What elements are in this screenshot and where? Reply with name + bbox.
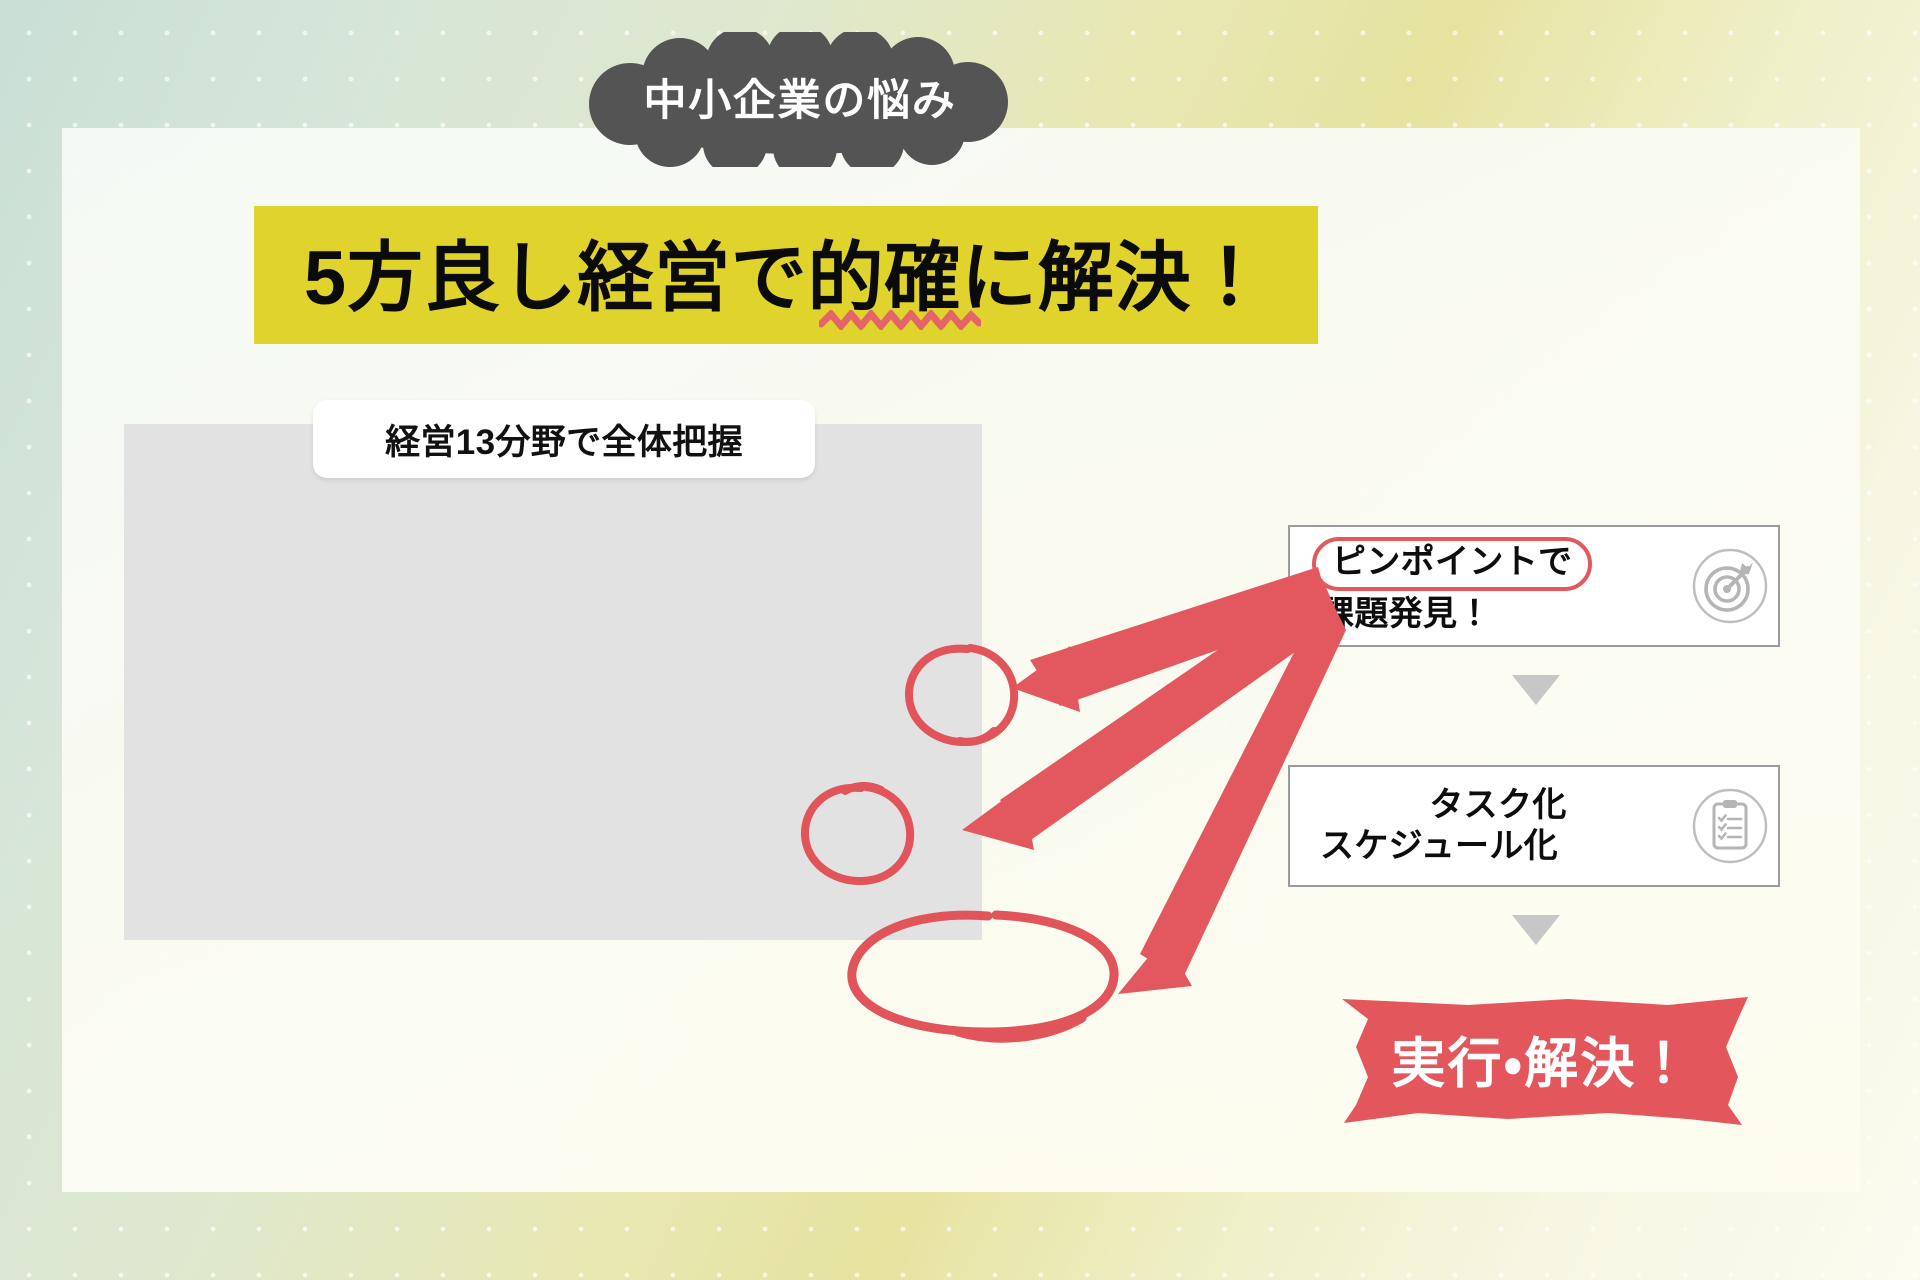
card-body: ピンポイントで 課題発見！ [1290,537,1682,635]
grid-heading-chip: 経営13分野で全体把握 [313,400,815,478]
headline-banner: 5方良し経営で的確に解決！ [254,206,1318,344]
red-squiggle-underline-icon [819,310,981,330]
card-line-primary: ピンポイントで [1312,537,1592,590]
ribbon-banner: 実行・解決！ [1308,985,1776,1135]
ribbon-label: 実行・解決！ [1308,985,1776,1135]
card-line-secondary: スケジュール化 [1320,826,1682,867]
card-task[interactable]: タスク化 スケジュール化 [1288,765,1780,887]
cloud-bubble-label: 中小企業の悩み [560,32,1040,167]
card-line-secondary: 課題発見！ [1320,594,1682,635]
target-dartboard-icon [1682,547,1778,625]
card-line-primary: タスク化 [1320,785,1682,826]
card-body: タスク化 スケジュール化 [1290,785,1682,868]
cloud-bubble: 中小企業の悩み [560,32,1040,167]
grid-panel-background [124,424,982,940]
clipboard-checklist-icon [1682,787,1778,865]
card-pinpoint[interactable]: ピンポイントで 課題発見！ [1288,525,1780,647]
headline-text: 5方良し経営で的確に解決！ [254,206,1318,344]
